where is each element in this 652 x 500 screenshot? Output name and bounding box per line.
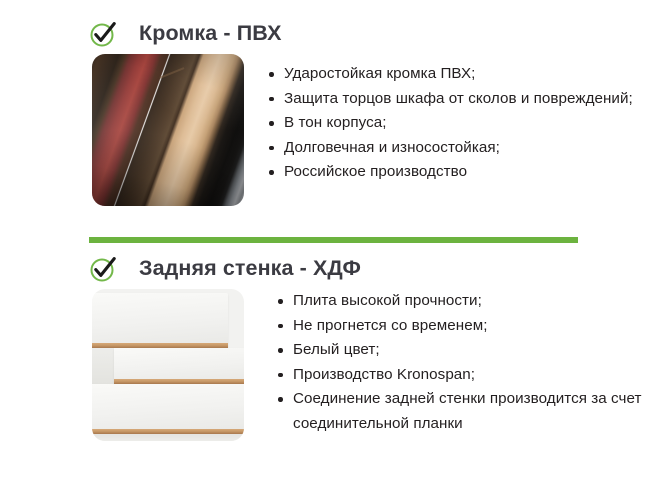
section-title-edge-banding: Кромка - ПВХ xyxy=(139,23,282,45)
list-item: Соединение задней стенки производится за… xyxy=(276,387,652,436)
section-back-panel: Задняя стенка - ХДФ Плита высокой прочно… xyxy=(0,249,652,441)
pvc-edge-banding-coils-photo xyxy=(92,54,244,206)
hdf-board-middle xyxy=(114,348,244,384)
feature-list-back-panel: Плита высокой прочности; Не прогнется со… xyxy=(276,289,652,436)
feature-list-edge-banding: Ударостойкая кромка ПВХ; Защита торцов ш… xyxy=(267,62,652,185)
check-circle-icon xyxy=(89,255,117,283)
list-item: Плита высокой прочности; xyxy=(276,289,652,314)
section-edge-banding: Кромка - ПВХ Ударостойкая кромка ПВХ; За… xyxy=(0,14,652,206)
list-item: Долговечная и износостойкая; xyxy=(267,136,652,161)
section-body-edge-banding: Ударостойкая кромка ПВХ; Защита торцов ш… xyxy=(0,54,652,206)
list-item: Ударостойкая кромка ПВХ; xyxy=(267,62,652,87)
hdf-board-base-strip xyxy=(92,434,244,441)
list-item: В тон корпуса; xyxy=(267,111,652,136)
hdf-back-panel-boards-photo xyxy=(92,289,244,441)
hdf-board-top xyxy=(92,293,228,348)
list-item: Белый цвет; xyxy=(276,338,652,363)
section-title-back-panel: Задняя стенка - ХДФ xyxy=(139,258,361,280)
list-item: Производство Kronospan; xyxy=(276,363,652,388)
section-divider xyxy=(89,237,578,243)
hdf-board-bottom xyxy=(92,384,244,434)
hdf-board-left-block xyxy=(92,348,114,384)
list-item: Не прогнется со временем; xyxy=(276,314,652,339)
section-heading-back-panel: Задняя стенка - ХДФ xyxy=(0,249,652,289)
list-item: Защита торцов шкафа от сколов и поврежде… xyxy=(267,87,652,112)
coil-seam-line xyxy=(159,67,184,79)
check-circle-icon xyxy=(89,20,117,48)
feature-page: Кромка - ПВХ Ударостойкая кромка ПВХ; За… xyxy=(0,0,652,500)
section-body-back-panel: Плита высокой прочности; Не прогнется со… xyxy=(0,289,652,441)
section-heading-edge-banding: Кромка - ПВХ xyxy=(0,14,652,54)
list-item: Российское производство xyxy=(267,160,652,185)
